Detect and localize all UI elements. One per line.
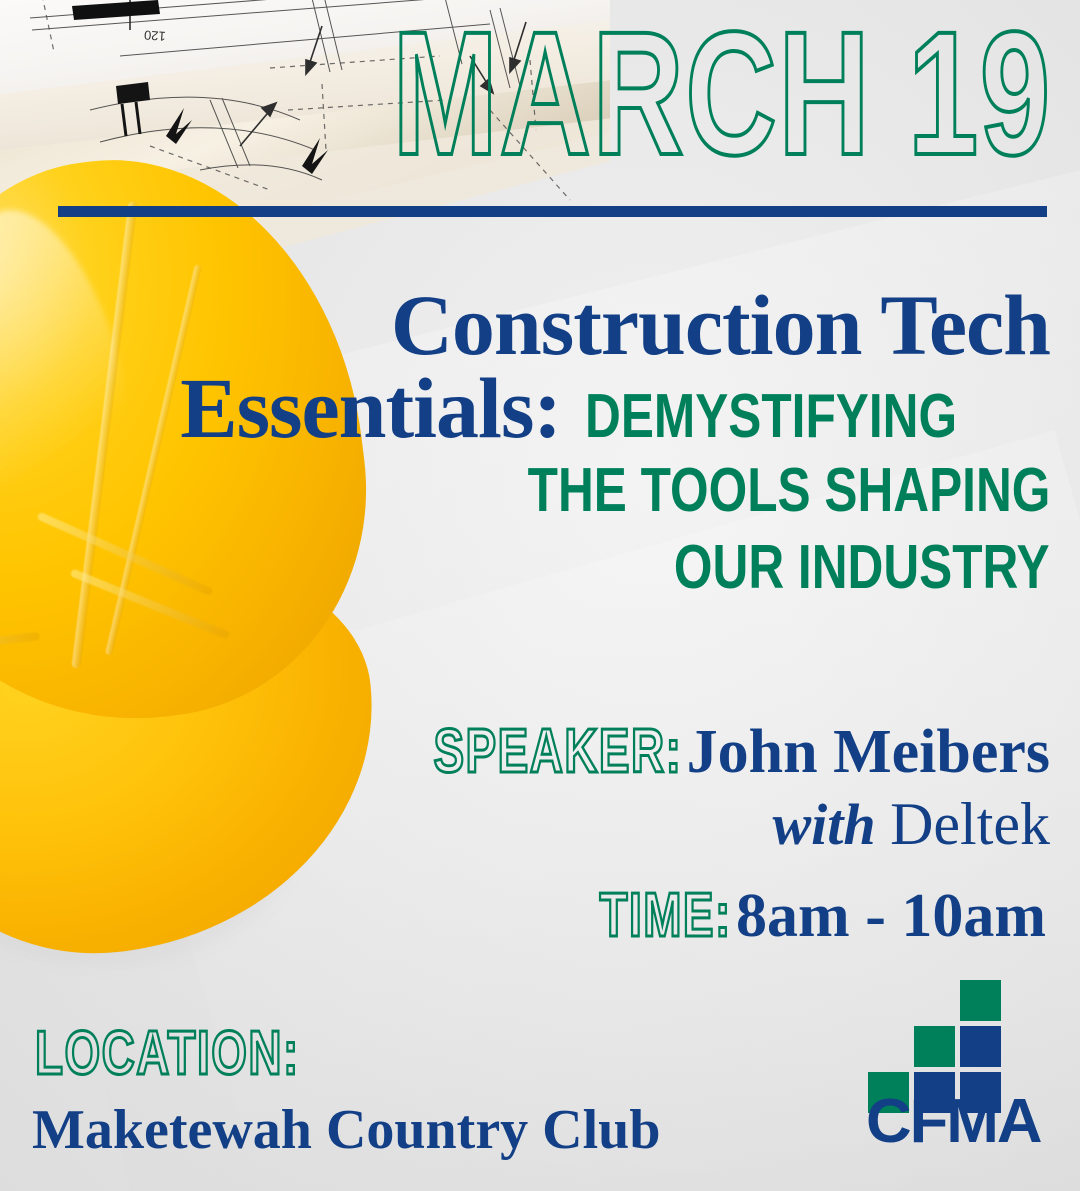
speaker-label: SPEAKER: [433,716,682,787]
location-label: LOCATION: [35,1018,300,1089]
speaker-name: John Meibers [687,717,1050,788]
subtitle-line-3: OUR INDUSTRY [674,532,1050,603]
time-label: TIME: [599,880,731,951]
date-banner: MARCH 19 [393,6,1052,182]
location-value: Maketewah Country Club [32,1098,660,1162]
header-divider-rule [58,206,1047,217]
cfma-logo: CFMA [868,980,1048,1160]
location-row: LOCATION: [35,1018,393,1089]
time-row: TIME: 8am - 10am [553,880,1046,952]
headline-block: Construction Tech Essentials: DEMYSTIFYI… [10,284,1050,603]
logo-square-r1-c3 [960,980,1001,1021]
speaker-row: SPEAKER: John Meibers [346,716,1050,788]
title-line-2: Essentials: [180,360,561,456]
time-value: 8am - 10am [736,881,1046,952]
event-flyer: 120 MARCH 19 Construction Tech Essential… [0,0,1080,1191]
speaker-with-word: with [772,791,875,858]
subtitle-part-1: DEMYSTIFYING [585,387,957,447]
blueprint-dimension-label: 120 [144,27,167,43]
speaker-company-row: with Deltek [772,790,1050,859]
cfma-wordmark: CFMA [866,1086,1040,1157]
logo-square-r2-c2 [914,1026,955,1067]
subtitle-line-2: THE TOOLS SHAPING [527,455,1050,526]
speaker-company: Deltek [890,790,1050,859]
logo-square-r2-c3 [960,1026,1001,1067]
